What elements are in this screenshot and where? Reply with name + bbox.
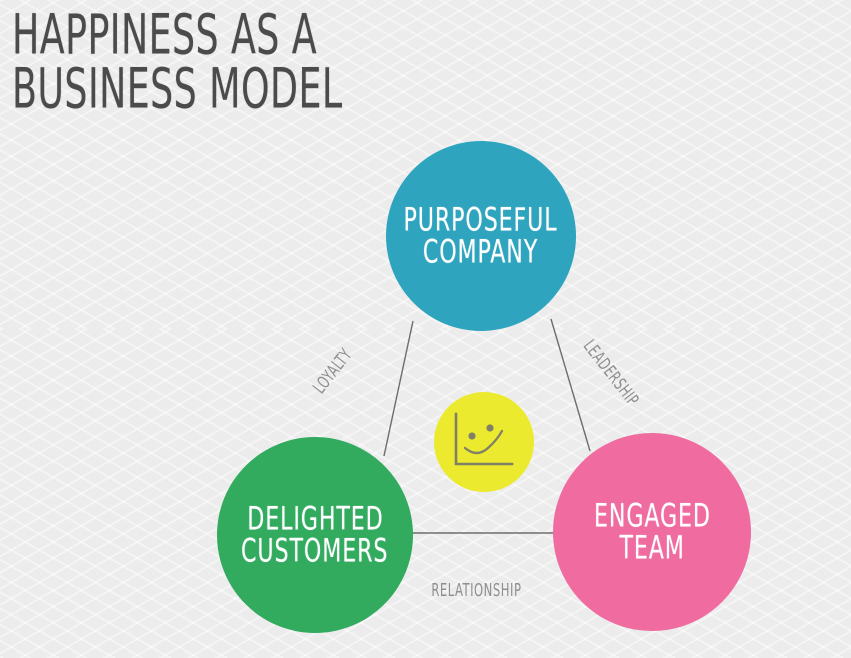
node-delighted-customers[interactable]: DELIGHTED CUSTOMERS xyxy=(217,437,413,633)
page-title-line-2: BUSINESS MODEL xyxy=(12,64,343,117)
page-title-line-1: HAPPINESS AS A xyxy=(12,10,343,63)
node-engaged-team[interactable]: ENGAGED TEAM xyxy=(553,433,751,631)
edge-label-relationship: RELATIONSHIP xyxy=(424,581,529,599)
node-delighted-customers-line-2: CUSTOMERS xyxy=(241,533,388,569)
page-title: HAPPINESS AS A BUSINESS MODEL xyxy=(12,10,396,108)
smiley-chart-icon xyxy=(452,412,516,472)
edge-label-relationship-text: RELATIONSHIP xyxy=(431,580,521,601)
node-purposeful-company[interactable]: PURPOSEFUL COMPANY xyxy=(386,141,576,331)
node-engaged-team-line-2: TEAM xyxy=(619,530,684,566)
connector-loyalty xyxy=(384,321,413,456)
node-happiness-center[interactable] xyxy=(434,392,534,492)
node-purposeful-company-line-2: COMPANY xyxy=(423,234,538,270)
